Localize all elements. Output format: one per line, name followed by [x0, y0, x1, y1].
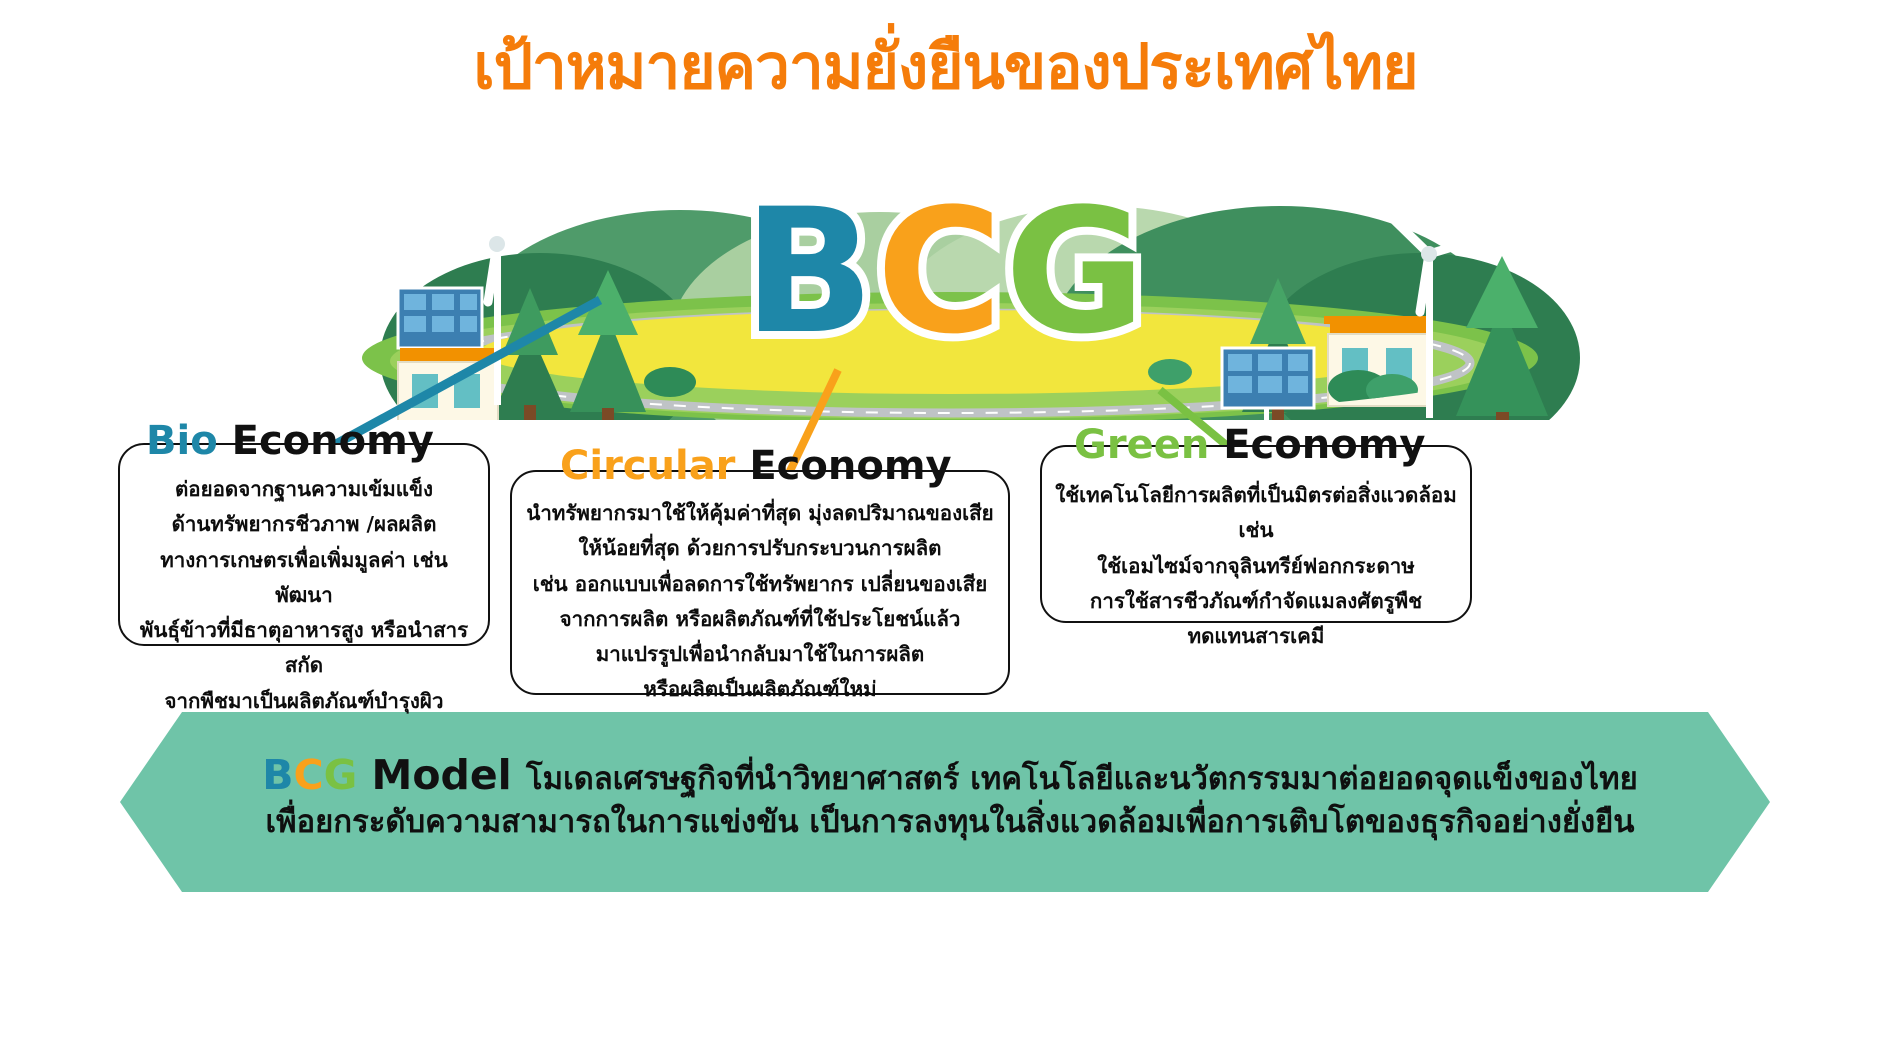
card-circular-heading-rest: Economy: [735, 443, 951, 489]
banner-line-2: เพื่อยกระดับความสามารถในการแข่งขัน เป็นก…: [150, 802, 1750, 843]
card-circular-heading: Circular Economy: [560, 443, 952, 489]
bcg-logo: BCG: [0, 186, 1891, 358]
card-green-body: ใช้เทคโนโลยีการผลิตที่เป็นมิตรต่อสิ่งแวด…: [1050, 478, 1462, 654]
banner-line-1: BCG Model โมเดลเศรษฐกิจที่นำวิทยาศาสตร์ …: [150, 748, 1750, 802]
card-green-line: การใช้สารชีวภัณฑ์กำจัดแมลงศัตรูพืช: [1050, 584, 1462, 619]
infographic-root: เป้าหมายความยั่งยืนของประเทศไทย: [0, 0, 1891, 1064]
card-circular-body: นำทรัพยากรมาใช้ให้คุ้มค่าที่สุด มุ่งลดปร…: [524, 496, 996, 708]
card-bio-line: จากพืชมาเป็นผลิตภัณฑ์บำรุงผิว: [132, 684, 476, 719]
card-bio-heading-rest: Economy: [218, 418, 434, 464]
banner-logo-b: B: [262, 751, 293, 799]
card-green-heading-accent: Green: [1074, 422, 1209, 468]
card-green-heading-rest: Economy: [1209, 422, 1425, 468]
bcg-letter-g: G: [1005, 171, 1148, 372]
banner-line-1-rest: โมเดลเศรษฐกิจที่นำวิทยาศาสตร์ เทคโนโลยีแ…: [526, 761, 1638, 797]
card-bio-line: ทางการเกษตรเพื่อเพิ่มมูลค่า เช่น พัฒนา: [132, 543, 476, 614]
card-bio-body: ต่อยอดจากฐานความเข้มแข็ง ด้านทรัพยากรชีว…: [132, 472, 476, 719]
card-bio-line: พันธุ์ข้าวที่มีธาตุอาหารสูง หรือนำสารสกั…: [132, 613, 476, 684]
card-green-heading: Green Economy: [1074, 422, 1425, 468]
banner-model-word: Model: [357, 751, 526, 799]
card-bio-heading: Bio Economy: [146, 418, 434, 464]
banner-logo-g: G: [324, 751, 358, 799]
banner-logo-c: C: [294, 751, 324, 799]
card-bio-heading-accent: Bio: [146, 418, 218, 464]
card-green-line: ใช้เทคโนโลยีการผลิตที่เป็นมิตรต่อสิ่งแวด…: [1050, 478, 1462, 549]
card-circular-line: ให้น้อยที่สุด ด้วยการปรับกระบวนการผลิต: [524, 531, 996, 566]
bottom-banner-text: BCG Model โมเดลเศรษฐกิจที่นำวิทยาศาสตร์ …: [150, 748, 1750, 843]
card-bio-line: ด้านทรัพยากรชีวภาพ /ผลผลิต: [132, 507, 476, 542]
card-circular-line: นำทรัพยากรมาใช้ให้คุ้มค่าที่สุด มุ่งลดปร…: [524, 496, 996, 531]
solar-panel-right: [1222, 348, 1314, 420]
card-circular-line: จากการผลิต หรือผลิตภัณฑ์ที่ใช้ประโยชน์แล…: [524, 602, 996, 637]
card-bio-line: ต่อยอดจากฐานความเข้มแข็ง: [132, 472, 476, 507]
card-green-line: ทดแทนสารเคมี: [1050, 619, 1462, 654]
bcg-letter-b: B: [743, 171, 876, 372]
card-circular-line: มาแปรรูปเพื่อนำกลับมาใช้ในการผลิต: [524, 637, 996, 672]
card-green-line: ใช้เอมไซม์จากจุลินทรีย์ฟอกกระดาษ: [1050, 549, 1462, 584]
card-circular-line: เช่น ออกแบบเพื่อลดการใช้ทรัพยากร เปลี่ยน…: [524, 567, 996, 602]
card-circular-heading-accent: Circular: [560, 443, 735, 489]
card-circular-line: หรือผลิตเป็นผลิตภัณฑ์ใหม่: [524, 672, 996, 707]
bcg-letter-c: C: [876, 171, 1004, 372]
page-title: เป้าหมายความยั่งยืนของประเทศไทย: [0, 34, 1891, 99]
